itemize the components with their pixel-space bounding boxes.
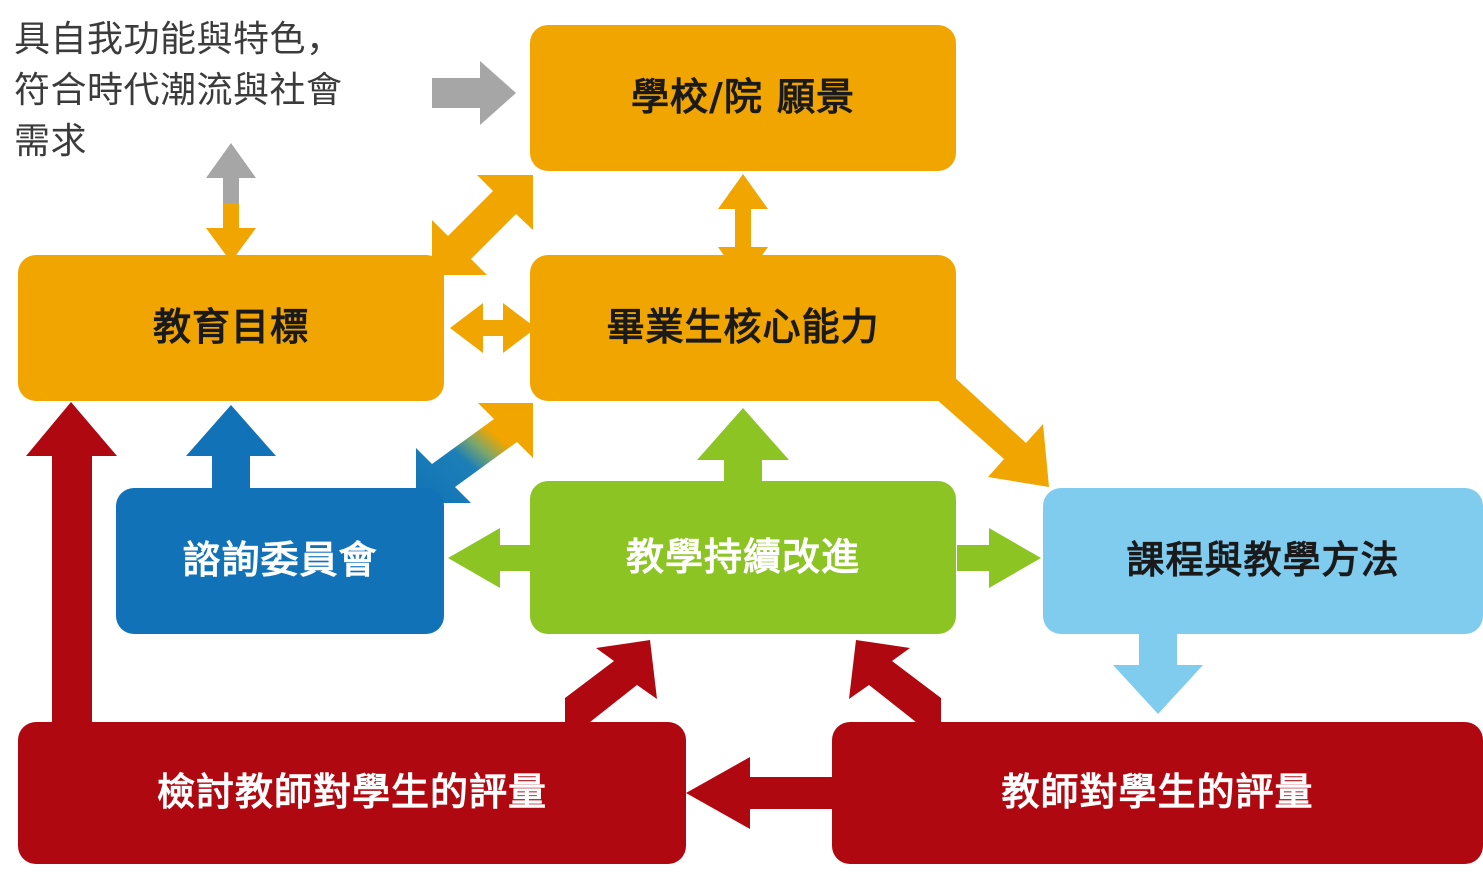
connector-advisory-competency-diagonal-icon — [416, 403, 533, 503]
connector-review-to-improvement-icon — [565, 640, 657, 726]
connector-goal-vision-diagonal-icon — [432, 175, 533, 275]
connector-assessment-to-review-icon — [686, 757, 834, 829]
node-teaching-continuous-improvement-label: 教學持續改進 — [626, 536, 860, 580]
connector-advisory-to-goal-icon — [186, 405, 276, 492]
connector-goal-competency-icon — [450, 303, 536, 353]
node-graduate-core-competency[interactable]: 畢業生核心能力 — [530, 255, 956, 401]
vision-criteria-caption: 具自我功能與特色， 符合時代潮流與社會 需求 — [14, 14, 434, 167]
node-review-teacher-assessment-label: 檢討教師對學生的評量 — [157, 771, 547, 815]
connector-assessment-to-improvement-icon — [849, 640, 941, 726]
connector-curriculum-to-assessment-icon — [1113, 632, 1203, 714]
node-education-goal[interactable]: 教育目標 — [18, 255, 444, 401]
node-advisory-committee[interactable]: 諮詢委員會 — [116, 488, 444, 634]
node-teacher-assessment-of-students-label: 教師對學生的評量 — [1001, 771, 1313, 815]
node-education-goal-label: 教育目標 — [153, 306, 309, 350]
connector-review-to-goal-icon — [26, 402, 117, 726]
node-curriculum-and-teaching-methods[interactable]: 課程與教學方法 — [1043, 488, 1483, 634]
connector-caption-to-vision-icon — [432, 61, 516, 125]
connector-improvement-to-advisory-icon — [448, 528, 532, 588]
node-curriculum-and-teaching-methods-label: 課程與教學方法 — [1126, 539, 1399, 583]
node-school-vision[interactable]: 學校/院 願景 — [530, 25, 956, 171]
node-teacher-assessment-of-students[interactable]: 教師對學生的評量 — [832, 722, 1483, 864]
node-graduate-core-competency-label: 畢業生核心能力 — [606, 306, 879, 350]
node-review-teacher-assessment[interactable]: 檢討教師對學生的評量 — [18, 722, 686, 864]
node-advisory-committee-label: 諮詢委員會 — [182, 539, 377, 583]
connector-improvement-to-curriculum-icon — [957, 528, 1041, 588]
node-school-vision-label: 學校/院 願景 — [631, 76, 855, 120]
node-teaching-continuous-improvement[interactable]: 教學持續改進 — [530, 481, 956, 634]
connector-improvement-to-competency-icon — [697, 408, 789, 492]
diagram-canvas: 具自我功能與特色， 符合時代潮流與社會 需求 學校/院 願景 教育目標 畢業生核… — [0, 0, 1483, 886]
